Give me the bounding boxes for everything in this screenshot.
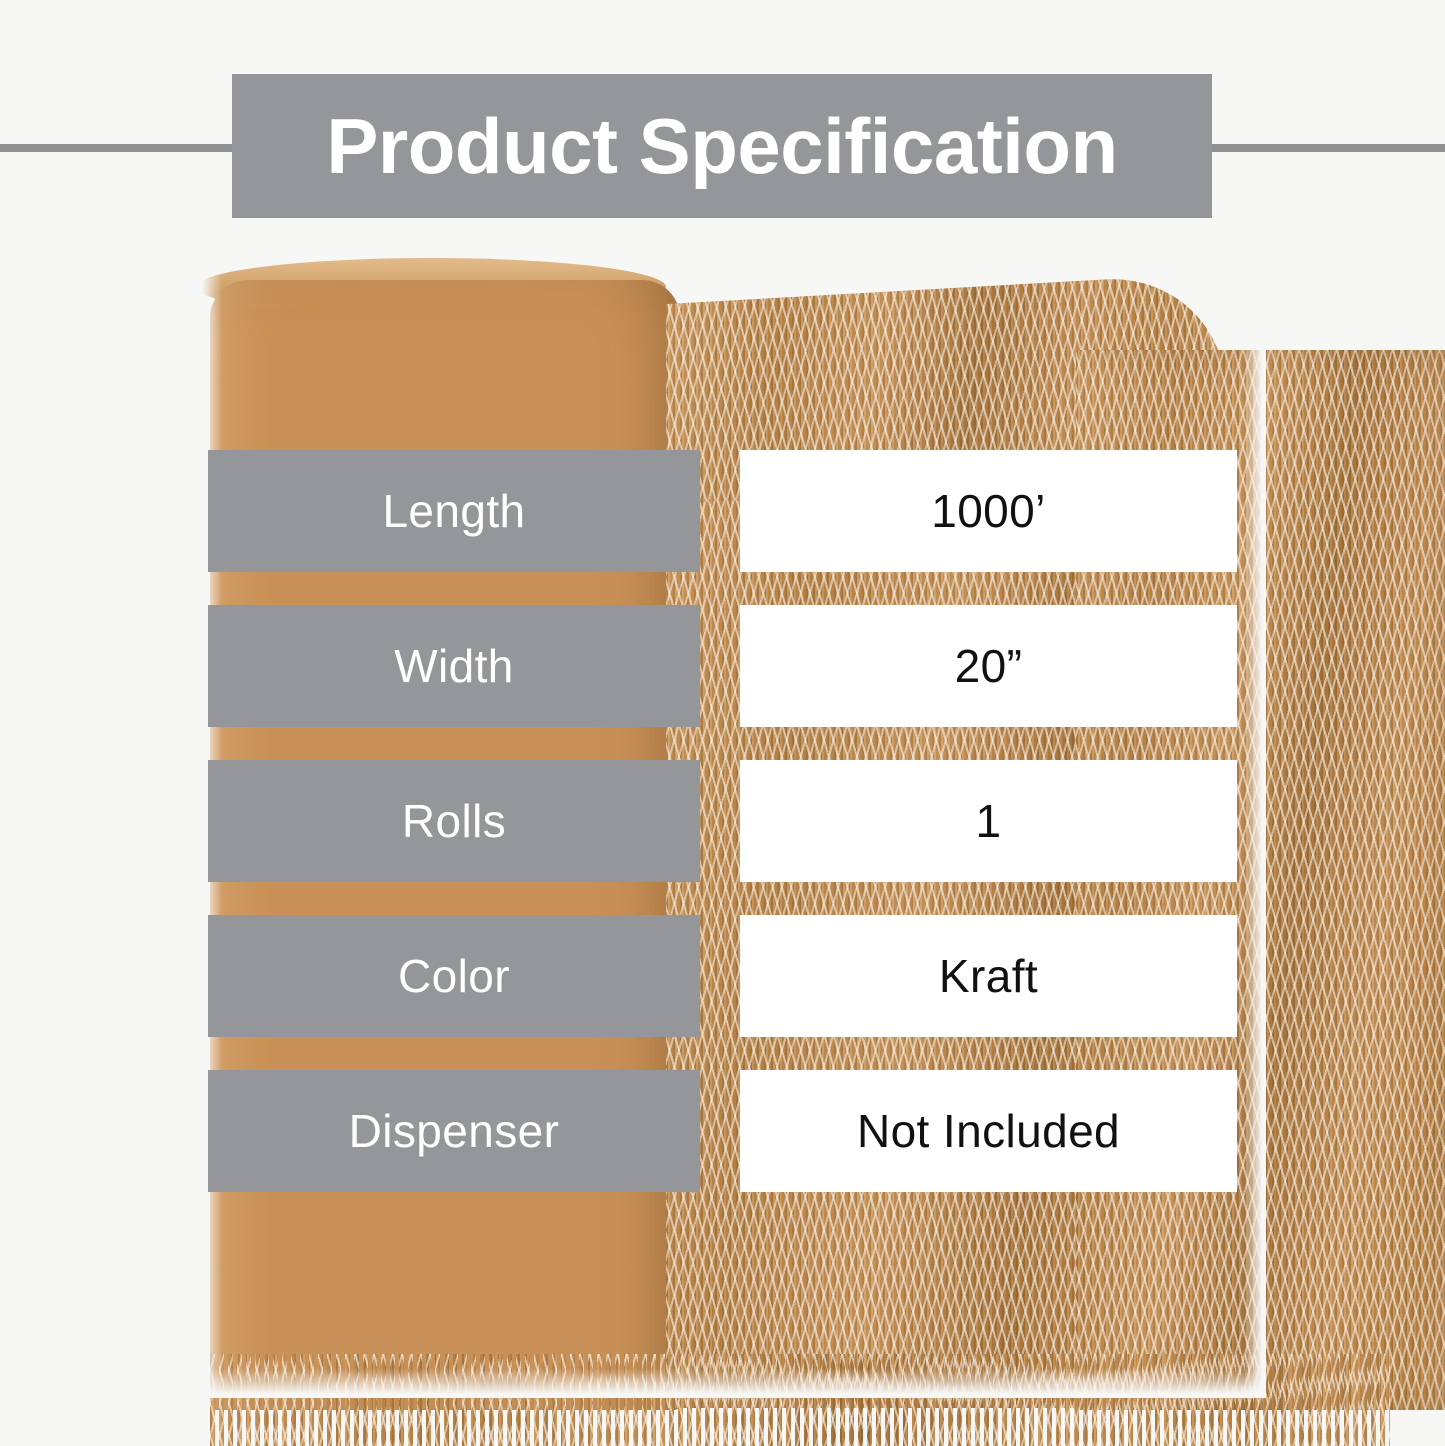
- spec-value-text: 20”: [955, 639, 1023, 693]
- table-row: Color Kraft: [208, 915, 1238, 1037]
- spec-label-text: Dispenser: [349, 1104, 560, 1158]
- table-row: Length 1000’: [208, 450, 1238, 572]
- table-row: Width 20”: [208, 605, 1238, 727]
- title-banner: Product Specification: [232, 74, 1212, 218]
- spec-label-text: Rolls: [402, 794, 506, 848]
- spec-label-text: Color: [398, 949, 510, 1003]
- specification-table: Length 1000’ Width 20” Rolls 1 Color Kra…: [208, 450, 1238, 1225]
- spec-value-text: 1000’: [931, 484, 1046, 538]
- spec-label-text: Width: [394, 639, 514, 693]
- spec-value-text: 1: [976, 794, 1002, 848]
- spec-value-text: Kraft: [939, 949, 1038, 1003]
- spec-label-dispenser: Dispenser: [208, 1070, 700, 1192]
- spec-value-color: Kraft: [740, 915, 1237, 1037]
- spec-value-width: 20”: [740, 605, 1237, 727]
- page-title: Product Specification: [326, 107, 1117, 185]
- spec-value-rolls: 1: [740, 760, 1237, 882]
- spec-label-length: Length: [208, 450, 700, 572]
- table-row: Rolls 1: [208, 760, 1238, 882]
- table-row: Dispenser Not Included: [208, 1070, 1238, 1192]
- spec-value-text: Not Included: [857, 1104, 1120, 1158]
- spec-value-length: 1000’: [740, 450, 1237, 572]
- spec-value-dispenser: Not Included: [740, 1070, 1237, 1192]
- spec-label-text: Length: [382, 484, 525, 538]
- spec-label-color: Color: [208, 915, 700, 1037]
- paper-bottom-fringe: [210, 1354, 1390, 1446]
- spec-label-rolls: Rolls: [208, 760, 700, 882]
- spec-label-width: Width: [208, 605, 700, 727]
